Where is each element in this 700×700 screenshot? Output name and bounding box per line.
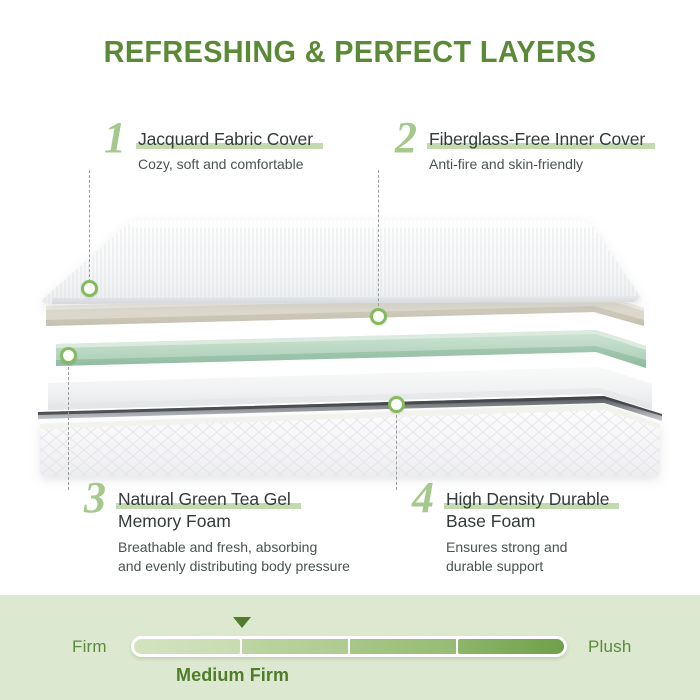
- callout-number-4: 4: [412, 476, 434, 520]
- callout-heading-4-text: High Density Durable: [446, 488, 609, 510]
- callout-sub-3-line1: Breathable and fresh, absorbing: [118, 538, 350, 557]
- firmness-label-firm: Firm: [72, 637, 107, 657]
- firmness-segment-4[interactable]: [458, 639, 564, 654]
- firmness-selected-label: Medium Firm: [176, 665, 289, 686]
- callout-heading-2: Fiberglass-Free Inner Cover: [429, 128, 645, 150]
- layer-fiberglass-free-inner-cover: [46, 292, 644, 326]
- connector-line-4: [396, 410, 397, 490]
- layer-marker-ring-3: [60, 347, 77, 364]
- callout-sub-3-line2: and evenly distributing body pressure: [118, 557, 350, 576]
- layer-jacquard-fabric-cover: [42, 220, 641, 304]
- firmness-label-plush: Plush: [588, 637, 632, 657]
- firmness-marker-triangle-icon: [233, 617, 251, 628]
- firmness-segment-1[interactable]: [134, 639, 240, 654]
- layer-base-foam-box: [38, 396, 662, 476]
- firmness-scale-panel: Firm Plush Medium Firm: [0, 595, 700, 700]
- layer-marker-ring-2: [370, 308, 387, 325]
- callout-1: 1 Jacquard Fabric Cover Cozy, soft and c…: [104, 128, 313, 174]
- firmness-segment-2[interactable]: [242, 639, 348, 654]
- callout-number-3: 3: [84, 476, 106, 520]
- callout-number-2: 2: [395, 116, 417, 160]
- callout-sub-4-line1: Ensures strong and: [446, 538, 609, 557]
- callout-sub-2: Anti-fire and skin-friendly: [429, 155, 645, 174]
- layer-high-density-base-foam: [48, 362, 652, 410]
- firmness-scale-track[interactable]: [131, 636, 567, 657]
- layer-green-tea-gel-memory-foam: [56, 330, 646, 368]
- callout-4: 4 High Density Durable Base Foam Ensures…: [412, 488, 609, 576]
- callout-heading-4-line2: Base Foam: [446, 510, 609, 533]
- callout-heading-1-text: Jacquard Fabric Cover: [138, 128, 313, 150]
- connector-line-3: [68, 362, 69, 490]
- callout-3: 3 Natural Green Tea Gel Memory Foam Brea…: [84, 488, 350, 576]
- callout-heading-2-text: Fiberglass-Free Inner Cover: [429, 128, 645, 150]
- connector-line-2: [378, 170, 379, 316]
- infographic-canvas: REFRESHING & PERFECT LAYERS: [0, 0, 700, 700]
- callout-number-1: 1: [104, 116, 126, 160]
- callout-sub-4-line2: durable support: [446, 557, 609, 576]
- callout-2: 2 Fiberglass-Free Inner Cover Anti-fire …: [395, 128, 645, 174]
- callout-heading-4: High Density Durable: [446, 488, 609, 510]
- layer-marker-ring-1: [81, 280, 98, 297]
- firmness-segment-3[interactable]: [350, 639, 456, 654]
- layer-marker-ring-4: [388, 396, 405, 413]
- connector-line-1: [89, 170, 90, 282]
- callout-sub-1: Cozy, soft and comfortable: [138, 155, 313, 174]
- callout-heading-3-text: Natural Green Tea Gel: [118, 488, 291, 510]
- callout-heading-1: Jacquard Fabric Cover: [138, 128, 313, 150]
- callout-heading-3-line2: Memory Foam: [118, 510, 350, 533]
- callout-heading-3: Natural Green Tea Gel: [118, 488, 350, 510]
- page-title: REFRESHING & PERFECT LAYERS: [25, 34, 676, 70]
